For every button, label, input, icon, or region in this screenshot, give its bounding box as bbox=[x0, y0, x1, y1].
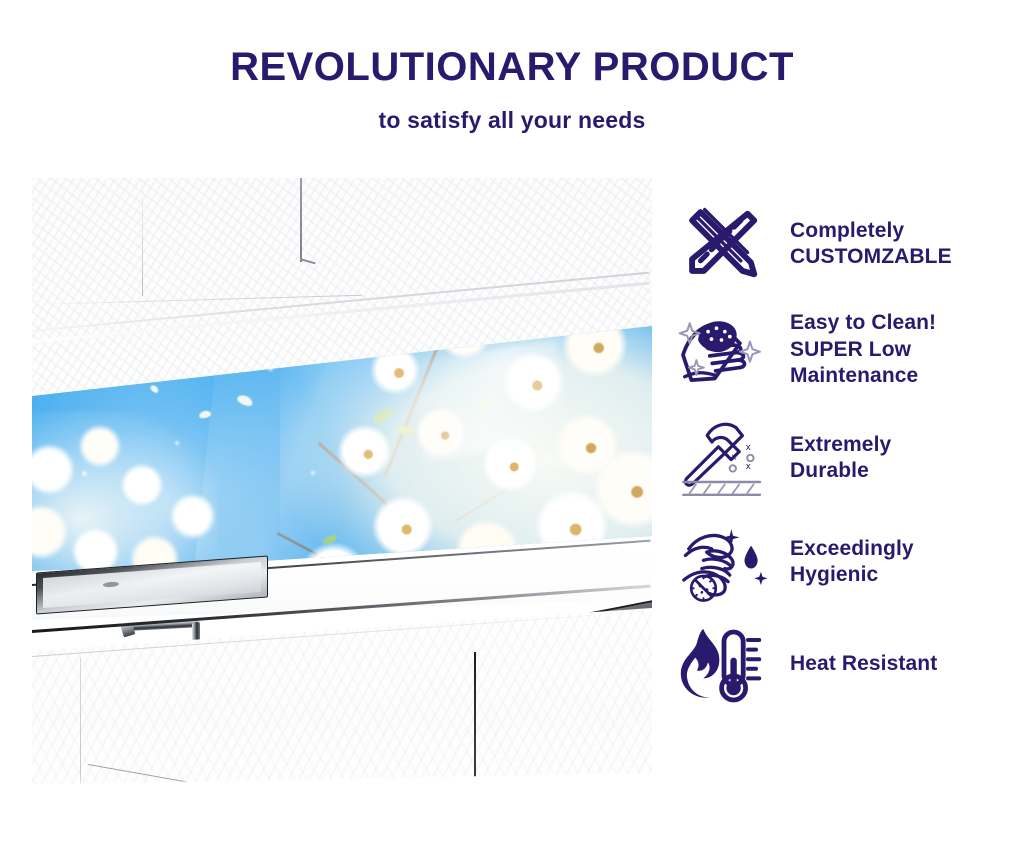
hammer-impact-icon: x x x bbox=[672, 410, 776, 506]
feature-label: Completely CUSTOMZABLE bbox=[790, 218, 1024, 271]
svg-text:x: x bbox=[746, 443, 751, 453]
feature-line: Completely bbox=[790, 218, 1024, 244]
cabinet-handle-rod bbox=[300, 178, 302, 262]
feature-label: Heat Resistant bbox=[790, 651, 1024, 677]
svg-text:x: x bbox=[731, 453, 736, 463]
feature-line: Exceedingly bbox=[790, 536, 1024, 562]
feature-item-hygienic: Exceedingly Hygienic bbox=[672, 514, 1024, 610]
feature-label: Easy to Clean! SUPER Low Maintenance bbox=[790, 310, 1024, 389]
washing-hands-germ-free-icon bbox=[672, 514, 776, 610]
page-title: REVOLUTIONARY PRODUCT bbox=[0, 46, 1024, 89]
blossom-cluster-left bbox=[32, 411, 218, 576]
hand-sponge-wipe-icon bbox=[672, 298, 776, 402]
feature-line: Hygienic bbox=[790, 562, 1024, 588]
bokeh-dot bbox=[82, 471, 87, 476]
header: REVOLUTIONARY PRODUCT to satisfy all you… bbox=[0, 0, 1024, 134]
feature-item-durable: x x x Extremely Durable bbox=[672, 410, 1024, 506]
lower-cabinets bbox=[32, 608, 652, 803]
page-subtitle: to satisfy all your needs bbox=[0, 107, 1024, 134]
feature-line: Extremely bbox=[790, 432, 1024, 458]
feature-line: Easy to Clean! bbox=[790, 310, 1024, 336]
feature-label: Extremely Durable bbox=[790, 432, 1024, 485]
feature-line: SUPER Low bbox=[790, 337, 1024, 363]
flame-thermometer-icon bbox=[672, 618, 776, 710]
feature-line: Maintenance bbox=[790, 363, 1024, 389]
feature-item-heat-resistant: Heat Resistant bbox=[672, 618, 1024, 710]
feature-label: Exceedingly Hygienic bbox=[790, 536, 1024, 589]
cabinet-door-seam bbox=[80, 658, 81, 798]
feature-line: Heat Resistant bbox=[790, 651, 1024, 677]
kitchen-photo bbox=[32, 178, 652, 803]
feature-list: Completely CUSTOMZABLE bbox=[672, 196, 1024, 718]
promo-poster: REVOLUTIONARY PRODUCT to satisfy all you… bbox=[0, 0, 1024, 856]
bokeh-dot bbox=[175, 441, 179, 445]
svg-text:x: x bbox=[746, 462, 751, 472]
feature-item-customizable: Completely CUSTOMZABLE bbox=[672, 196, 1024, 292]
cabinet-seam-vertical bbox=[142, 178, 143, 296]
feature-line: Durable bbox=[790, 458, 1024, 484]
feature-line: CUSTOMZABLE bbox=[790, 244, 1024, 270]
pencil-ruler-icon bbox=[672, 196, 776, 292]
feature-item-easy-to-clean: Easy to Clean! SUPER Low Maintenance bbox=[672, 298, 1024, 402]
